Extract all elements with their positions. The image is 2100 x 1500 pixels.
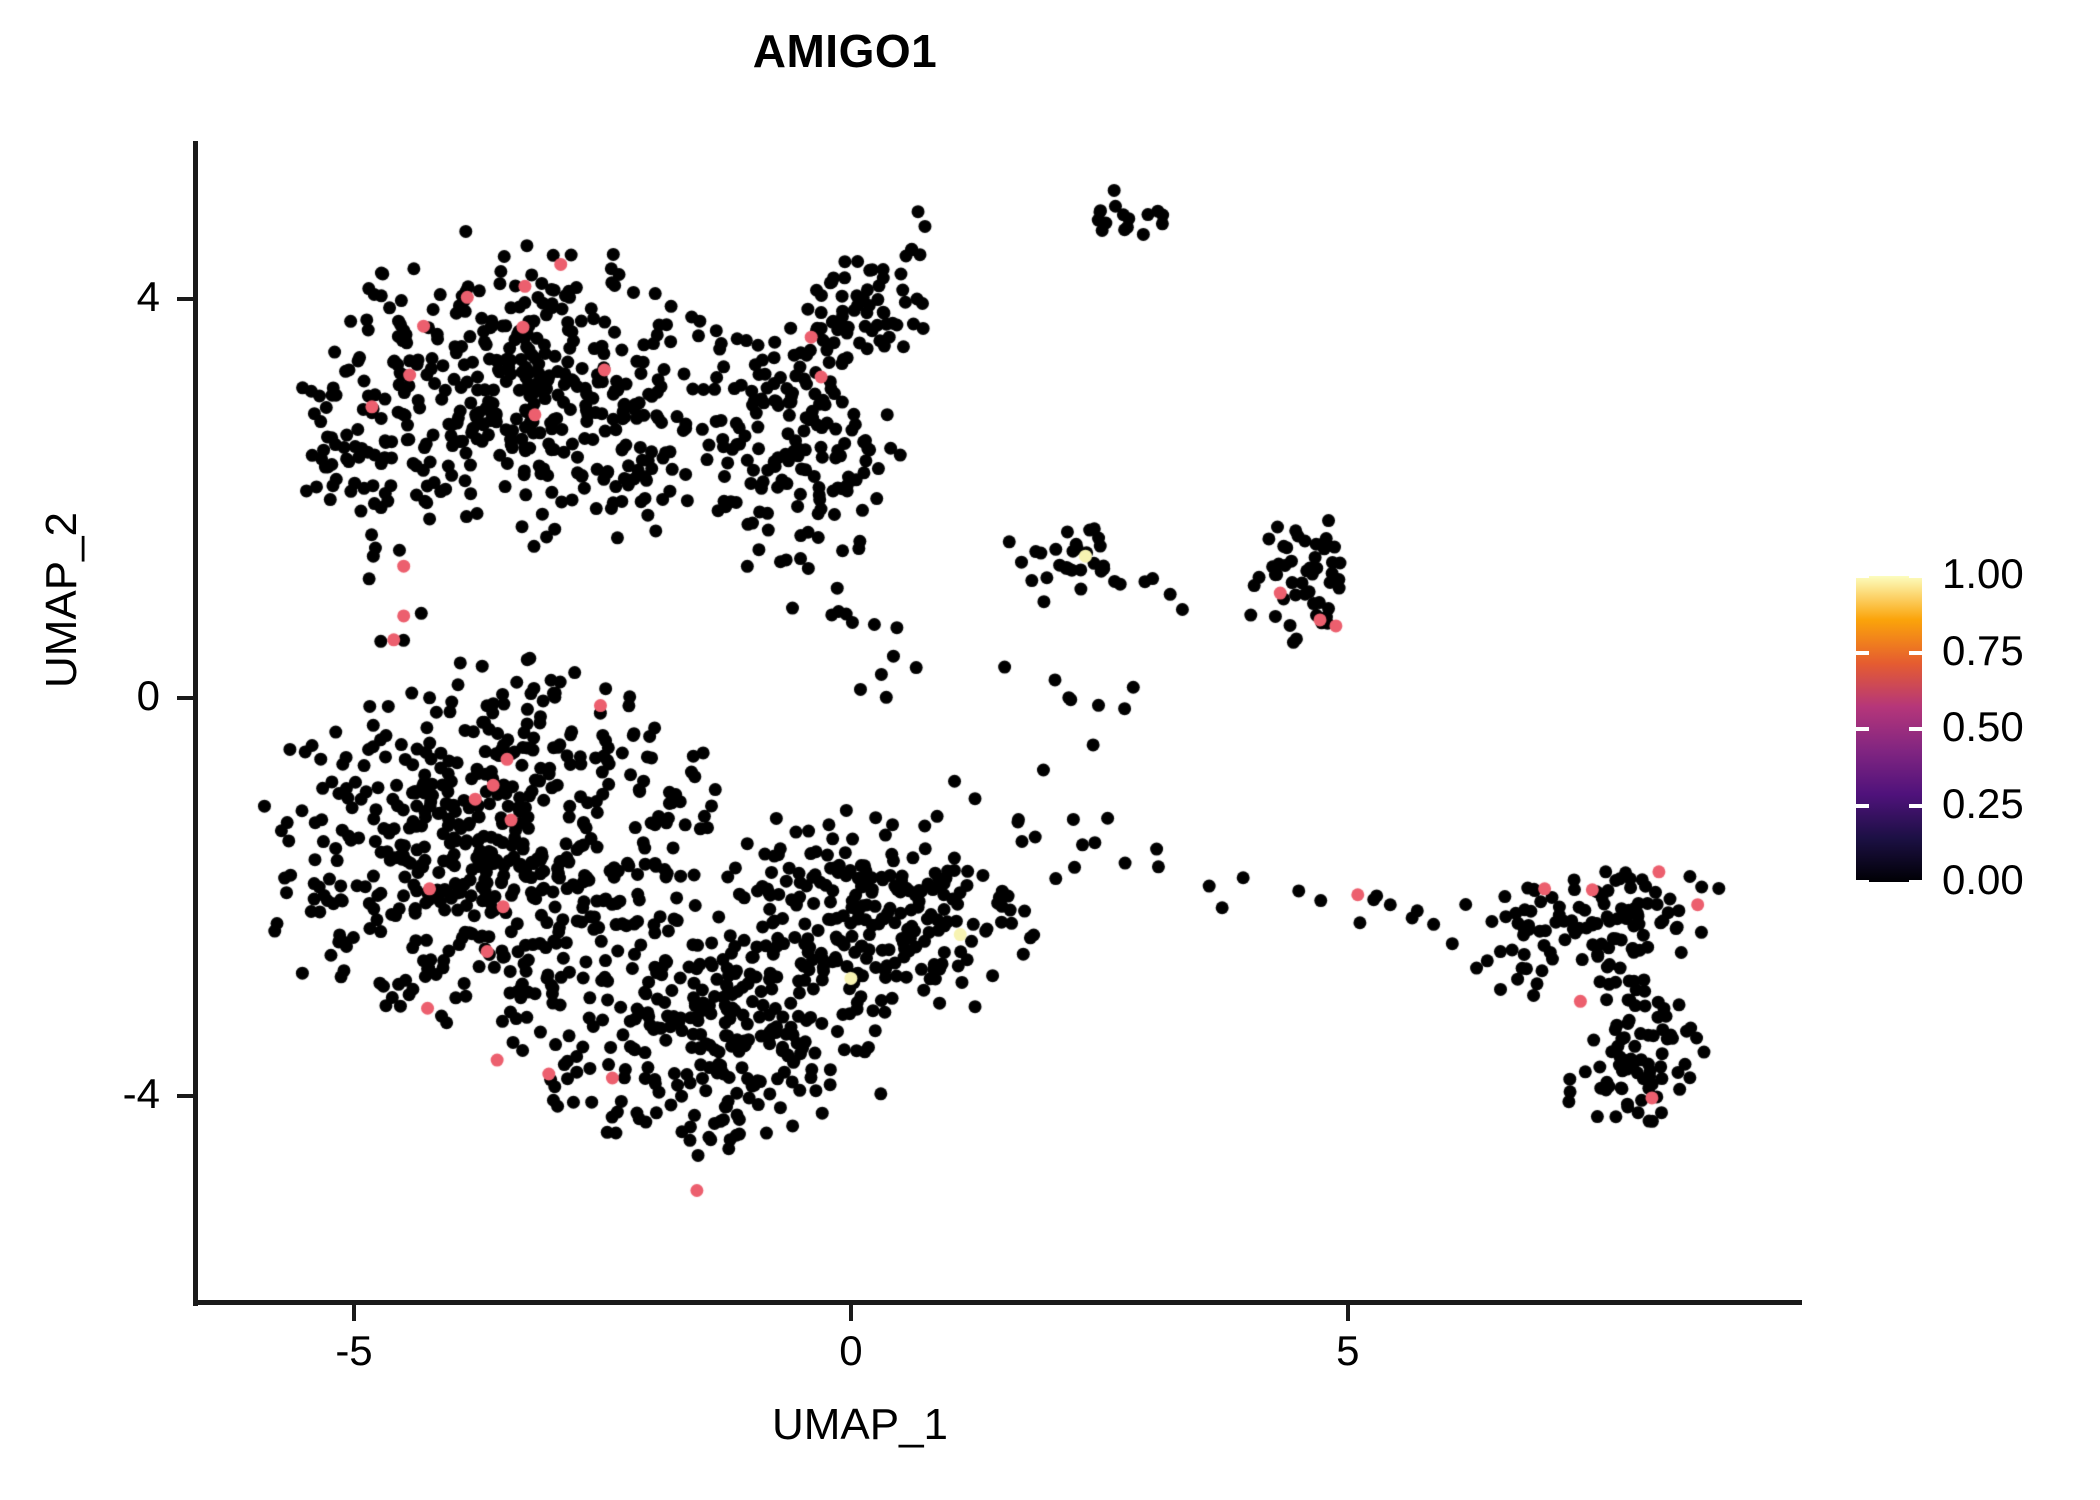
x-axis-tick-label: 0 bbox=[791, 1327, 911, 1375]
y-axis-tick-label: 4 bbox=[40, 273, 160, 321]
legend-tick-mark bbox=[1909, 574, 1922, 578]
x-axis-line bbox=[193, 1300, 1802, 1305]
x-axis-label: UMAP_1 bbox=[560, 1400, 1160, 1450]
legend-tick-label: 1.00 bbox=[1942, 550, 2100, 598]
legend-tick-mark bbox=[1909, 880, 1922, 884]
scatter-points-canvas bbox=[195, 140, 1805, 1305]
legend-tick-label: 0.00 bbox=[1942, 856, 2100, 904]
page-title: AMIGO1 bbox=[0, 24, 1690, 78]
y-axis-tick-label: -4 bbox=[40, 1070, 160, 1118]
legend-tick-label: 0.50 bbox=[1942, 703, 2100, 751]
x-axis-tick-mark bbox=[849, 1305, 853, 1321]
legend-tick-mark bbox=[1856, 804, 1869, 808]
feature-plot-root: AMIGO1 -50540-4 UMAP_1 UMAP_2 1.000.750.… bbox=[0, 0, 2100, 1500]
legend-tick-label: 0.25 bbox=[1942, 780, 2100, 828]
legend-tick-mark bbox=[1909, 651, 1922, 655]
legend-tick-mark bbox=[1856, 651, 1869, 655]
legend-tick-label: 0.75 bbox=[1942, 627, 2100, 675]
legend-tick-mark bbox=[1856, 880, 1869, 884]
y-axis-label: UMAP_2 bbox=[37, 420, 87, 780]
x-axis-tick-mark bbox=[352, 1305, 356, 1321]
legend-tick-mark bbox=[1909, 804, 1922, 808]
legend-tick-mark bbox=[1856, 727, 1869, 731]
x-axis-tick-label: 5 bbox=[1288, 1327, 1408, 1375]
x-axis-tick-mark bbox=[1346, 1305, 1350, 1321]
y-axis-tick-mark bbox=[177, 1094, 193, 1098]
y-axis-tick-mark bbox=[177, 696, 193, 700]
y-axis-line bbox=[193, 141, 198, 1306]
legend-tick-mark bbox=[1909, 727, 1922, 731]
legend-tick-mark bbox=[1856, 574, 1869, 578]
scatter-plot-panel bbox=[195, 140, 1805, 1305]
x-axis-tick-label: -5 bbox=[294, 1327, 414, 1375]
y-axis-tick-mark bbox=[177, 297, 193, 301]
